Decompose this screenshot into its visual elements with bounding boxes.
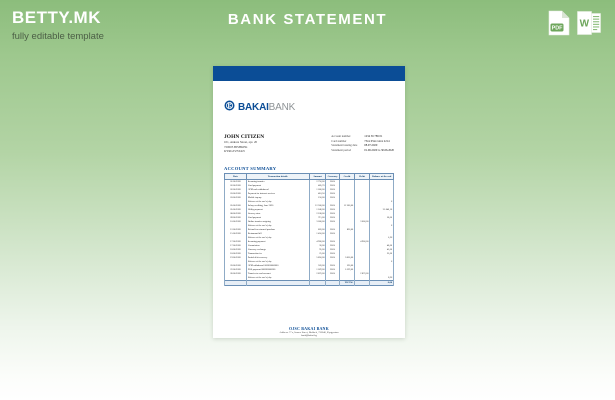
statement-document-preview[interactable]: BAKAIBANK JOHN CITIZEN 101, Ankara Stree… [213, 66, 405, 338]
logo-text-primary: BAKAI [238, 102, 269, 113]
word-file-icon[interactable]: W [577, 10, 601, 41]
total-credit: TOTAL [339, 281, 354, 286]
table-total-row: TOTAL0,00 [225, 281, 394, 286]
svg-text:W: W [580, 18, 590, 29]
page-header: BETTY.MK fully editable template BANK ST… [0, 0, 615, 52]
customer-address-line: KYRGYZSTAN [224, 149, 264, 153]
account-info-value: 01.06.2020 to 30.06.2020 [364, 148, 394, 153]
account-info-label: Statement period [331, 148, 364, 153]
total-details [246, 281, 309, 286]
total-debit [355, 281, 370, 286]
total-currency [326, 281, 340, 286]
account-info-row: Statement period 01.06.2020 to 30.06.202… [331, 148, 394, 153]
file-format-icons: PDF W [548, 10, 601, 41]
total-amount [309, 281, 326, 286]
account-info-table: Account number 1234 56 789 01 Card numbe… [331, 134, 394, 152]
logo-text-secondary: BANK [269, 102, 295, 113]
total-balance: 0,00 [370, 281, 394, 286]
bakai-circle-logo-icon [224, 98, 235, 116]
pdf-file-icon[interactable]: PDF [548, 10, 570, 41]
transactions-table: Date Transaction details Amount Currency… [224, 173, 394, 286]
transactions-body: 01.06.2020Incoming transfer2 750,00KGS02… [225, 180, 394, 286]
section-title-account-summary: ACCOUNT SUMMARY [224, 166, 394, 171]
bank-logo: BAKAIBANK [224, 98, 394, 116]
svg-text:PDF: PDF [552, 26, 563, 32]
brand-tagline: fully editable template [12, 31, 104, 43]
customer-block: JOHN CITIZEN 101, Ankara Street, apt. 20… [224, 134, 264, 153]
statement-meta: JOHN CITIZEN 101, Ankara Street, apt. 20… [224, 134, 394, 153]
document-top-bar [213, 66, 405, 81]
page-title: BANK STATEMENT [0, 11, 615, 28]
total-date [225, 281, 247, 286]
document-footer: OJSC BAKAI BANK Address: 77 a, Isanov St… [213, 326, 405, 338]
